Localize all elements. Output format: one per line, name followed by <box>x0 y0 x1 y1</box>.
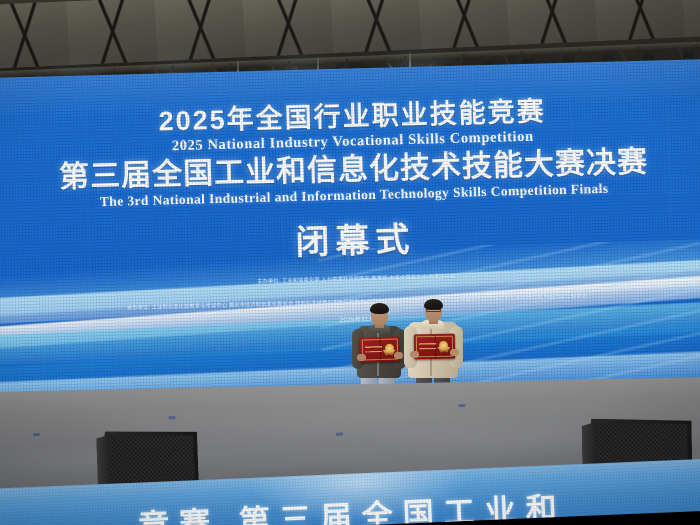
organizers-line: 主办单位: 工业和信息化部 人力资源社会保障部 教育部 中华全国总工会 共青团中… <box>0 266 700 295</box>
led-backdrop-screen: 2025年全国行业职业技能竞赛 2025 National Industry V… <box>0 59 700 408</box>
ceiling-panel <box>154 0 253 61</box>
ceiling-panel <box>67 0 166 65</box>
certificate-text-lines <box>419 342 436 349</box>
award-certificate <box>414 334 455 360</box>
ceiling-panel <box>682 0 700 37</box>
ceiling-panel <box>594 0 693 41</box>
glasses <box>426 309 441 312</box>
ceiling-panel <box>330 0 429 53</box>
left-hand <box>410 351 419 358</box>
ceiling-panel <box>418 0 517 49</box>
ceiling-panel <box>506 0 605 45</box>
backdrop-text-block: 2025年全国行业职业技能竞赛 2025 National Industry V… <box>0 93 700 333</box>
left-hand <box>357 354 366 361</box>
screenshot-root: 2025年全国行业职业技能竞赛 2025 National Industry V… <box>0 0 700 525</box>
right-hand <box>450 349 459 356</box>
right-hand <box>394 352 403 359</box>
certificate-gold-seal <box>439 341 448 350</box>
hair <box>370 303 389 314</box>
ceremony-name-cn: 闭幕式 <box>0 204 700 272</box>
certificate-text-lines <box>365 345 382 352</box>
ceiling-panel <box>242 0 341 57</box>
certificate-gold-seal <box>384 344 393 353</box>
ceiling-panel <box>0 1 77 69</box>
